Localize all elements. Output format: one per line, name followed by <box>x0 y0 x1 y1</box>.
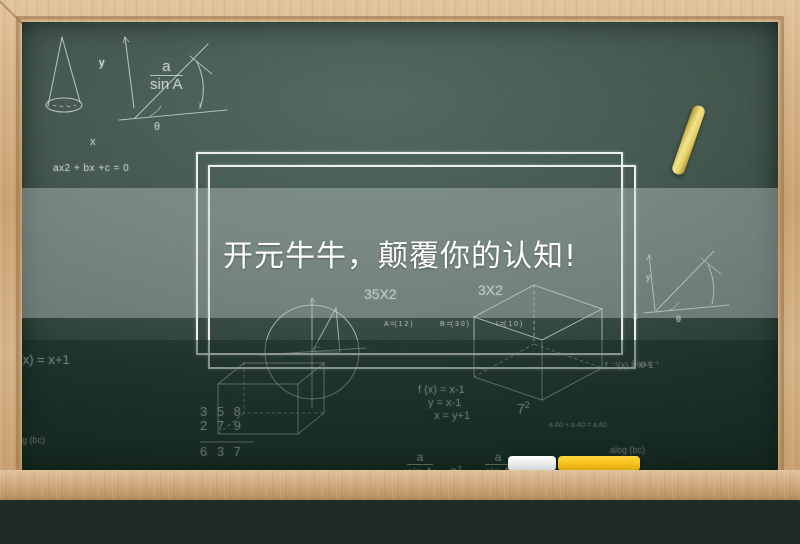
yellow-chalk-piece-icon[interactable] <box>558 456 640 471</box>
chalkboard: y y x θ a sin A ax2 + bx +c = 0 f (x) = … <box>22 22 778 470</box>
white-chalk-piece-icon[interactable] <box>508 456 556 471</box>
page-title: 开元牛牛，颠覆你的认知! <box>22 188 778 318</box>
chalk-ledge <box>0 470 800 500</box>
ledge-wood-grain <box>0 470 800 500</box>
